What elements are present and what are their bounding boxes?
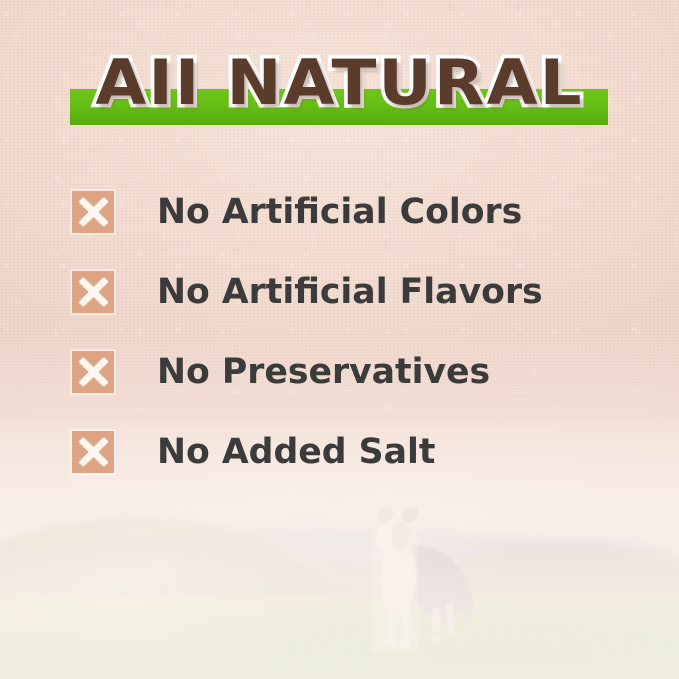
claim-label: No Added Salt xyxy=(157,433,435,471)
list-item: No Artificial Colors xyxy=(72,172,632,252)
x-mark-icon xyxy=(72,351,114,393)
list-item: No Preservatives xyxy=(72,332,632,412)
x-mark-icon xyxy=(72,271,114,313)
list-item: No Added Salt xyxy=(72,412,632,492)
page-title: AII NATURAL xyxy=(0,52,679,114)
claims-list: No Artificial Colors No Artificial Flavo… xyxy=(72,172,632,492)
x-mark-icon xyxy=(72,191,114,233)
product-feature-poster: AII NATURAL No Artificial Colors No Arti… xyxy=(0,0,679,679)
claim-label: No Preservatives xyxy=(157,353,490,391)
x-mark-icon xyxy=(72,431,114,473)
list-item: No Artificial Flavors xyxy=(72,252,632,332)
claim-label: No Artificial Colors xyxy=(157,193,522,231)
claim-label: No Artificial Flavors xyxy=(157,273,543,311)
